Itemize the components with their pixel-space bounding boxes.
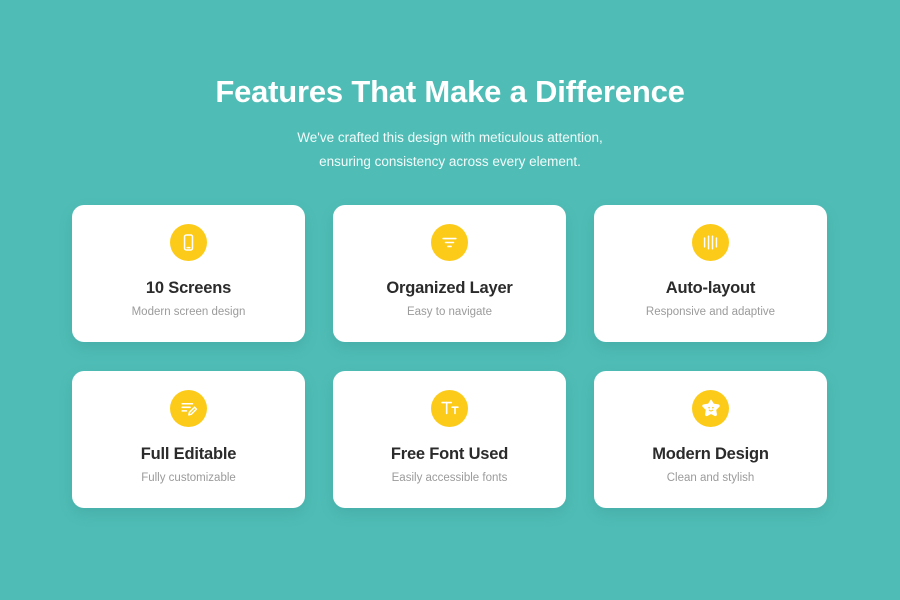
feature-card[interactable]: Full Editable Fully customizable	[72, 371, 305, 508]
section-subtitle: We've crafted this design with meticulou…	[0, 126, 900, 174]
feature-card[interactable]: 10 Screens Modern screen design	[72, 205, 305, 342]
feature-title: 10 Screens	[146, 279, 231, 297]
feature-card[interactable]: Auto-layout Responsive and adaptive	[594, 205, 827, 342]
feature-card[interactable]: Modern Design Clean and stylish	[594, 371, 827, 508]
feature-title: Organized Layer	[386, 279, 512, 297]
feature-title: Modern Design	[652, 445, 769, 463]
feature-card[interactable]: Organized Layer Easy to navigate	[333, 205, 566, 342]
feature-description: Modern screen design	[132, 306, 246, 320]
feature-description: Clean and stylish	[667, 472, 755, 486]
typography-tt-icon	[431, 390, 468, 427]
feature-title: Free Font Used	[391, 445, 508, 463]
feature-title: Auto-layout	[666, 279, 755, 297]
mobile-phone-icon	[170, 224, 207, 261]
feature-section: Features That Make a Difference We've cr…	[0, 0, 900, 600]
feature-card-grid: 10 Screens Modern screen design Organize…	[72, 205, 828, 508]
feature-description: Easy to navigate	[407, 306, 492, 320]
feature-description: Easily accessible fonts	[392, 472, 508, 486]
subtitle-line-1: We've crafted this design with meticulou…	[0, 126, 900, 150]
auto-layout-bars-icon	[692, 224, 729, 261]
edit-pencil-icon	[170, 390, 207, 427]
section-header: Features That Make a Difference We've cr…	[0, 0, 900, 174]
feature-description: Fully customizable	[141, 472, 236, 486]
feature-card[interactable]: Free Font Used Easily accessible fonts	[333, 371, 566, 508]
feature-description: Responsive and adaptive	[646, 306, 775, 320]
filter-layers-icon	[431, 224, 468, 261]
feature-title: Full Editable	[141, 445, 237, 463]
star-badge-icon	[692, 390, 729, 427]
page-title: Features That Make a Difference	[0, 76, 900, 109]
subtitle-line-2: ensuring consistency across every elemen…	[0, 150, 900, 174]
